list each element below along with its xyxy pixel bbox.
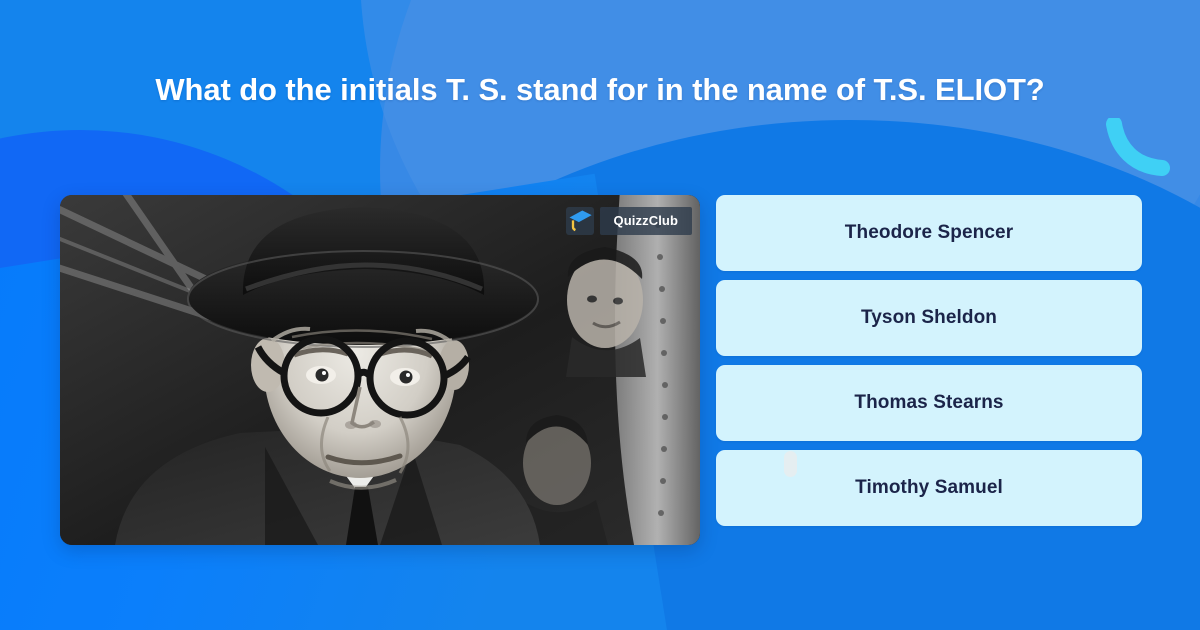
graduation-cap-icon <box>566 207 594 235</box>
question-photo <box>60 195 700 545</box>
answer-option-4-label: Timothy Samuel <box>855 477 1003 499</box>
brand-watermark: QuizzClub <box>566 207 692 235</box>
quizzclub-logo-badge <box>566 207 594 235</box>
answer-options-list: Theodore Spencer Tyson Sheldon Thomas St… <box>716 195 1142 526</box>
answer-option-3[interactable]: Thomas Stearns <box>716 365 1142 441</box>
cyan-arc-decoration <box>1104 118 1178 180</box>
answer-option-1[interactable]: Theodore Spencer <box>716 195 1142 271</box>
answer-option-2-label: Tyson Sheldon <box>861 307 997 329</box>
question-image-card: QuizzClub <box>60 195 700 545</box>
quiz-card-canvas: What do the initials T. S. stand for in … <box>0 0 1200 630</box>
scroll-thumb-indicator[interactable] <box>784 451 797 477</box>
answer-option-4[interactable]: Timothy Samuel <box>716 450 1142 526</box>
brand-name: QuizzClub <box>600 207 692 235</box>
answer-option-3-label: Thomas Stearns <box>854 392 1003 414</box>
question-title: What do the initials T. S. stand for in … <box>0 72 1200 109</box>
answer-option-2[interactable]: Tyson Sheldon <box>716 280 1142 356</box>
answer-option-1-label: Theodore Spencer <box>845 222 1013 244</box>
